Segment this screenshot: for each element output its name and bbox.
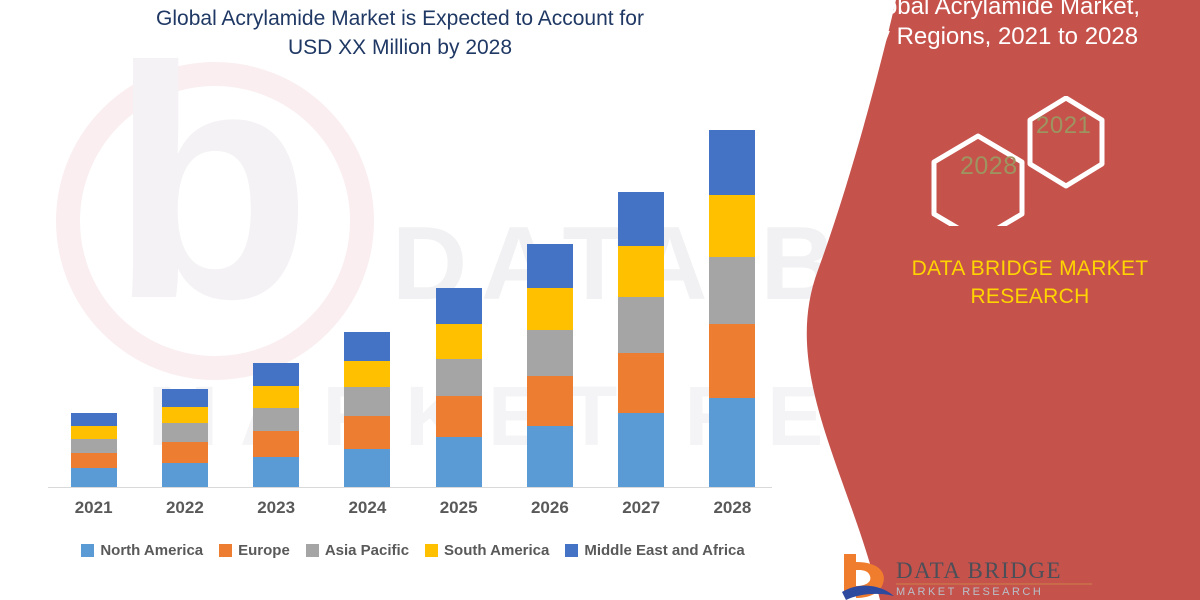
segment-2021-asia-pacific	[71, 439, 117, 453]
brand-line-1: DATA BRIDGE MARKET	[880, 255, 1180, 283]
legend-swatch-icon	[425, 544, 438, 557]
panel-title-line-2: By Regions, 2021 to 2028	[800, 22, 1200, 52]
x-axis-label-2021: 2021	[59, 498, 129, 518]
x-axis-label-2025: 2025	[424, 498, 494, 518]
hexagon-badges: 2028 2021	[916, 96, 1126, 226]
segment-2028-middle-east-and-africa	[709, 130, 755, 195]
bar-2027	[618, 192, 664, 488]
chart-region: Global Acrylamide Market is Expected to …	[0, 0, 800, 600]
hexagon-2028-label: 2028	[960, 152, 1018, 181]
legend-item-asia-pacific[interactable]: Asia Pacific	[306, 542, 409, 559]
segment-2023-north-america	[253, 457, 299, 488]
bar-2028	[709, 130, 755, 488]
footer-logo: DATA BRIDGE MARKET RESEARCH	[838, 552, 1178, 600]
chart-title-line-2: USD XX Million by 2028	[60, 33, 740, 62]
x-axis-label-2023: 2023	[241, 498, 311, 518]
segment-2028-south-america	[709, 195, 755, 257]
hexagon-2021-label: 2021	[1036, 112, 1091, 140]
brand-name: DATA BRIDGE MARKET RESEARCH	[880, 255, 1180, 311]
segment-2024-europe	[344, 416, 390, 448]
plot-area	[48, 110, 778, 488]
segment-2021-south-america	[71, 426, 117, 439]
segment-2027-asia-pacific	[618, 297, 664, 353]
bar-2023	[253, 363, 299, 488]
legend-label: Asia Pacific	[325, 542, 409, 559]
segment-2022-asia-pacific	[162, 423, 208, 442]
panel-title: Global Acrylamide Market, By Regions, 20…	[800, 0, 1200, 52]
bar-2024	[344, 332, 390, 488]
segment-2021-middle-east-and-africa	[71, 413, 117, 427]
x-axis-label-2028: 2028	[697, 498, 767, 518]
legend-label: South America	[444, 542, 549, 559]
footer-logo-subtext: MARKET RESEARCH	[896, 586, 1043, 598]
segment-2024-south-america	[344, 361, 390, 387]
legend-label: Europe	[238, 542, 290, 559]
legend-swatch-icon	[565, 544, 578, 557]
x-axis-label-2022: 2022	[150, 498, 220, 518]
segment-2023-europe	[253, 431, 299, 457]
segment-2023-middle-east-and-africa	[253, 363, 299, 386]
segment-2024-north-america	[344, 449, 390, 488]
segment-2024-asia-pacific	[344, 387, 390, 416]
segment-2028-north-america	[709, 398, 755, 488]
panel-title-line-1: Global Acrylamide Market,	[800, 0, 1200, 22]
segment-2023-asia-pacific	[253, 408, 299, 432]
segment-2026-middle-east-and-africa	[527, 244, 573, 288]
infographic-stage: b DATA BRIDGE MARKET RESEARCH Global Acr…	[0, 0, 1200, 600]
segment-2026-europe	[527, 376, 573, 426]
bar-2022	[162, 389, 208, 488]
legend-item-south-america[interactable]: South America	[425, 542, 549, 559]
segment-2024-middle-east-and-africa	[344, 332, 390, 360]
bar-2025	[436, 288, 482, 488]
segment-2022-europe	[162, 442, 208, 463]
legend-swatch-icon	[81, 544, 94, 557]
segment-2028-europe	[709, 324, 755, 398]
chart-title-line-1: Global Acrylamide Market is Expected to …	[60, 4, 740, 33]
chart-title: Global Acrylamide Market is Expected to …	[60, 4, 740, 62]
segment-2025-south-america	[436, 324, 482, 358]
segment-2022-south-america	[162, 407, 208, 424]
segment-2027-middle-east-and-africa	[618, 192, 664, 246]
footer-logo-mark	[838, 552, 896, 600]
legend-item-europe[interactable]: Europe	[219, 542, 290, 559]
hexagon-2028-shape	[934, 136, 1022, 226]
legend-item-middle-east-and-africa[interactable]: Middle East and Africa	[565, 542, 744, 559]
segment-2021-north-america	[71, 468, 117, 488]
x-axis-label-2026: 2026	[515, 498, 585, 518]
segment-2026-asia-pacific	[527, 330, 573, 376]
legend-item-north-america[interactable]: North America	[81, 542, 203, 559]
x-axis-labels: 20212022202320242025202620272028	[48, 498, 778, 528]
bar-2021	[71, 413, 117, 488]
bar-2026	[527, 244, 573, 488]
x-axis-label-2024: 2024	[332, 498, 402, 518]
segment-2027-north-america	[618, 413, 664, 488]
segment-2022-north-america	[162, 463, 208, 489]
legend-swatch-icon	[219, 544, 232, 557]
segment-2023-south-america	[253, 386, 299, 408]
segment-2022-middle-east-and-africa	[162, 389, 208, 407]
legend-label: North America	[100, 542, 203, 559]
segment-2028-asia-pacific	[709, 257, 755, 325]
segment-2026-north-america	[527, 426, 573, 488]
segment-2025-middle-east-and-africa	[436, 288, 482, 324]
brand-line-2: RESEARCH	[880, 283, 1180, 311]
segment-2025-europe	[436, 396, 482, 437]
x-axis-line	[48, 487, 772, 488]
segment-2021-europe	[71, 453, 117, 469]
x-axis-label-2027: 2027	[606, 498, 676, 518]
segment-2025-north-america	[436, 437, 482, 488]
segment-2026-south-america	[527, 288, 573, 330]
footer-logo-text: DATA BRIDGE	[896, 558, 1062, 584]
segment-2027-south-america	[618, 246, 664, 297]
segment-2027-europe	[618, 353, 664, 414]
legend-swatch-icon	[306, 544, 319, 557]
legend-label: Middle East and Africa	[584, 542, 744, 559]
segment-2025-asia-pacific	[436, 359, 482, 396]
chart-legend: North AmericaEuropeAsia PacificSouth Ame…	[48, 538, 778, 562]
